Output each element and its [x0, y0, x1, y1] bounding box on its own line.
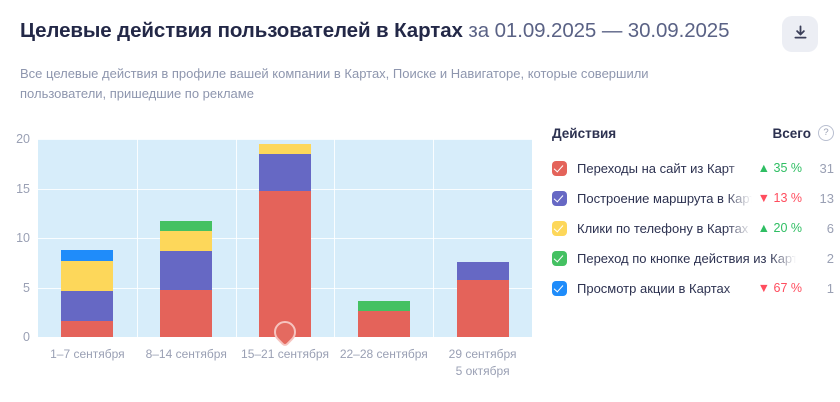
y-axis-tick: 15: [16, 182, 30, 196]
x-axis-tick: 1–7 сентября: [38, 346, 137, 363]
x-axis-tick: 8–14 сентября: [137, 346, 236, 363]
bar-group[interactable]: [160, 221, 212, 337]
x-axis-tick: 29 сентября 5 октября: [433, 346, 532, 380]
legend-row[interactable]: Просмотр акции в Картах▼ 67 %1: [552, 273, 834, 303]
legend-checkbox[interactable]: [552, 281, 567, 296]
bar-segment[interactable]: [160, 221, 212, 231]
bar-group[interactable]: [259, 144, 311, 337]
x-axis-tick: 22–28 сентября: [334, 346, 433, 363]
bar-segment[interactable]: [61, 321, 113, 337]
bar-segment[interactable]: [160, 251, 212, 291]
bar-segment[interactable]: [457, 280, 509, 337]
y-axis-tick: 10: [16, 231, 30, 245]
page-title: Целевые действия пользователей в Картах …: [20, 18, 729, 44]
legend-total: 13: [810, 191, 834, 206]
legend-label: Клики по телефону в Картах: [577, 221, 752, 236]
bar-segment[interactable]: [259, 191, 311, 337]
legend-row[interactable]: Переход по кнопке действия из Карт2: [552, 243, 834, 273]
legend-row[interactable]: Клики по телефону в Картах▲ 20 %6: [552, 213, 834, 243]
legend-col-actions: Действия: [552, 126, 773, 141]
bar-group[interactable]: [61, 250, 113, 337]
legend-delta: ▲ 20 %: [758, 221, 802, 235]
legend-row[interactable]: Переходы на сайт из Карт▲ 35 %31: [552, 153, 834, 183]
page-title-main: Целевые действия пользователей в Картах: [20, 19, 463, 42]
bar-segment[interactable]: [259, 144, 311, 154]
legend-row[interactable]: Построение маршрута в Картах▼ 13 %13: [552, 183, 834, 213]
bar-segment[interactable]: [358, 311, 410, 337]
legend-checkbox[interactable]: [552, 221, 567, 236]
legend-total: 6: [810, 221, 834, 236]
bar-segment[interactable]: [358, 301, 410, 311]
legend-table: Действия Всего ? Переходы на сайт из Кар…: [552, 122, 834, 303]
x-axis-tick: 15–21 сентября: [236, 346, 335, 363]
legend-delta: ▼ 13 %: [758, 191, 802, 205]
bar-segment[interactable]: [160, 231, 212, 251]
y-axis-labels: 05101520: [0, 139, 30, 337]
page-title-period: за 01.09.2025 — 30.09.2025: [468, 19, 729, 42]
help-icon[interactable]: ?: [818, 125, 834, 141]
bar-segment[interactable]: [259, 154, 311, 192]
legend-checkbox[interactable]: [552, 161, 567, 176]
bar-group[interactable]: [457, 262, 509, 337]
plot-area: [38, 139, 532, 337]
legend-checkbox[interactable]: [552, 191, 567, 206]
legend-checkbox[interactable]: [552, 251, 567, 266]
title-row: Целевые действия пользователей в Картах …: [20, 18, 820, 52]
y-axis-tick: 0: [23, 330, 30, 344]
download-button[interactable]: [782, 16, 818, 52]
legend-total: 2: [810, 251, 834, 266]
legend-label: Переход по кнопке действия из Карт: [577, 251, 796, 266]
x-axis-labels: 1–7 сентября8–14 сентября15–21 сентября2…: [38, 346, 532, 392]
bar-segment[interactable]: [457, 262, 509, 280]
y-axis-tick: 20: [16, 132, 30, 146]
legend-delta: ▼ 67 %: [758, 281, 802, 295]
legend-label: Просмотр акции в Картах: [577, 281, 752, 296]
download-icon: [793, 25, 808, 44]
bars-layer: [38, 139, 532, 337]
chart: 05101520 1–7 сентября8–14 сентября15–21 …: [0, 124, 540, 394]
legend-col-total: Всего: [773, 126, 811, 141]
bar-segment[interactable]: [160, 290, 212, 337]
page-header: Целевые действия пользователей в Картах …: [0, 0, 840, 104]
bar-segment[interactable]: [61, 261, 113, 292]
legend-header: Действия Всего ?: [552, 122, 834, 144]
legend-delta: ▲ 35 %: [758, 161, 802, 175]
bar-segment[interactable]: [61, 291, 113, 321]
y-axis-tick: 5: [23, 281, 30, 295]
legend-rows: Переходы на сайт из Карт▲ 35 %31Построен…: [552, 153, 834, 303]
bar-group[interactable]: [358, 301, 410, 337]
legend-total: 31: [810, 161, 834, 176]
page-subtitle: Все целевые действия в профиле вашей ком…: [20, 64, 720, 104]
bar-segment[interactable]: [61, 250, 113, 261]
legend-label: Переходы на сайт из Карт: [577, 161, 752, 176]
legend-label: Построение маршрута в Картах: [577, 191, 752, 206]
legend-total: 1: [810, 281, 834, 296]
